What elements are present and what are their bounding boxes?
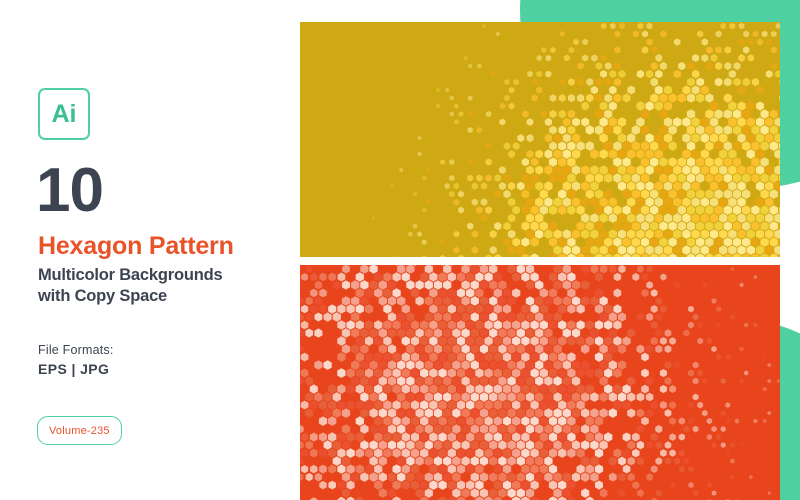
page-subtitle: Multicolor Backgrounds with Copy Space [38, 265, 288, 307]
adobe-illustrator-badge-label: Ai [52, 102, 77, 127]
info-panel: Ai 10 Hexagon Pattern Multicolor Backgro… [0, 0, 300, 500]
adobe-illustrator-badge: Ai [38, 88, 90, 140]
item-count: 10 [36, 160, 103, 222]
page-title: Hexagon Pattern [38, 233, 234, 261]
file-formats-label: File Formats: [38, 343, 114, 357]
hexagon-pattern-red-graphic [300, 265, 780, 500]
volume-badge-label: Volume-235 [49, 425, 110, 437]
file-formats-value: EPS | JPG [38, 361, 109, 377]
preview-thumbnail-yellow[interactable] [300, 22, 780, 257]
preview-thumbnail-red[interactable] [300, 265, 780, 500]
volume-badge: Volume-235 [37, 416, 122, 445]
hexagon-pattern-yellow-graphic [300, 22, 780, 257]
poster-canvas: Ai 10 Hexagon Pattern Multicolor Backgro… [0, 0, 800, 500]
